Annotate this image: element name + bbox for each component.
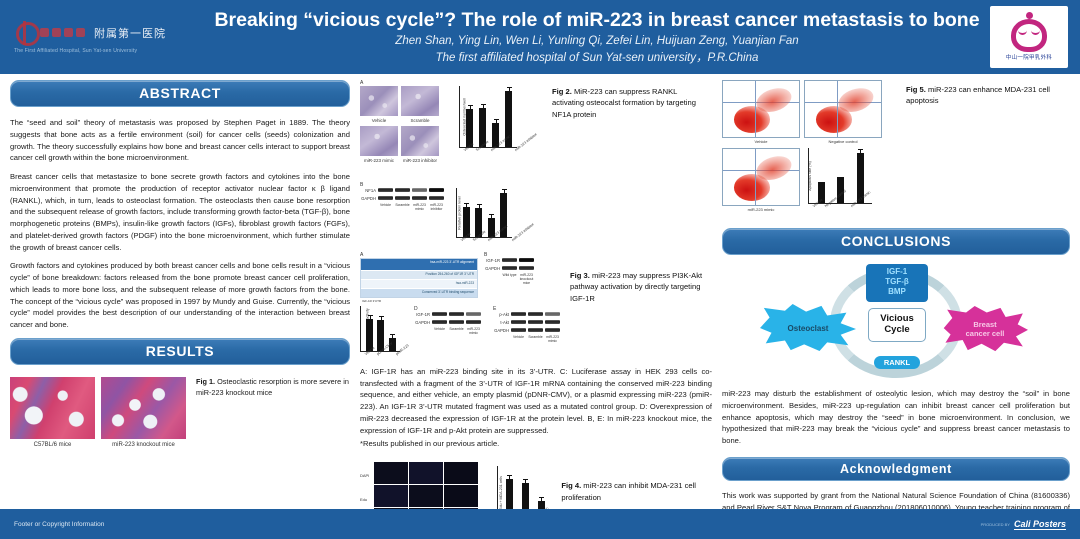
poster-affiliation: The first affiliated hospital of Sun Yat… <box>212 49 982 65</box>
poster-authors: Zhen Shan, Ying Lin, Wen Li, Yunling Qi,… <box>212 35 982 47</box>
university-logo-left: 附属第一医院 The First Affiliated Hospital, Su… <box>14 11 204 63</box>
micrograph-vehicle <box>360 86 398 116</box>
flow-panel-vehicle: Vehicle <box>722 80 800 144</box>
vicious-cycle-center-box: Vicious Cycle <box>868 308 926 342</box>
figure-2-graphic: A Vehicle Scramble <box>360 80 542 238</box>
blot-e-xlabel-3: miR-223 mimic <box>545 336 560 344</box>
figure-1-panel-knockout: miR-223 knockout mice <box>101 377 186 448</box>
blot-e-row-takt: t-Akt <box>493 320 509 325</box>
growth-factors-box: IGF-1 TGF-β BMP <box>866 264 928 302</box>
figure-5-caption-text: miR-223 can enhance MDA-231 cell apoptos… <box>906 85 1050 105</box>
figure-2-caption-label: Fig 2. <box>552 87 572 96</box>
figure-1-panel-label-2: miR-223 knockout mice <box>101 442 186 448</box>
blot-b-row-gapdh: GAPDH <box>484 266 500 271</box>
section-header-abstract: ABSTRACT <box>10 80 350 107</box>
growth-factor-tgfb: TGF-β <box>866 277 928 287</box>
footer-brand-logo: Cali Posters <box>1014 519 1066 529</box>
figure-3-caption: Fig 3. miR-223 may suppress PI3K-Akt pat… <box>570 252 712 352</box>
figure-5-graphic: Vehicle Negative control miR-223 mimic A… <box>722 80 894 212</box>
department-logo-right: 中山一院甲乳外科 <box>990 6 1068 68</box>
micrograph-scramble <box>401 86 439 116</box>
column-right: Vehicle Negative control miR-223 mimic A… <box>722 80 1070 532</box>
figure-5-caption-label: Fig 5. <box>906 85 926 94</box>
footer-brand-name: Cali Posters <box>1014 519 1066 530</box>
figure-1-caption-label: Fig 1. <box>196 377 215 386</box>
figure-2-block: A Vehicle Scramble <box>360 80 712 238</box>
title-block: Breaking “vicious cycle”? The role of mi… <box>204 9 990 65</box>
figure-3-block: A hsa-miR-223 3'-UTR alignment Position … <box>360 252 712 352</box>
micrograph-label-3: miR-223 mimic <box>360 158 398 163</box>
section-header-acknowledgment: Acknowledgment <box>722 457 1070 481</box>
vicious-cycle-line-2: Cycle <box>884 324 909 335</box>
figure-2-chart-a: Osteoclast number/well Vehicle Scramble … <box>459 86 517 148</box>
conclusions-body: miR-223 may disturb the establishment of… <box>722 388 1070 447</box>
logo-left-english-name: The First Affiliated Hospital, Sun Yat-s… <box>14 48 204 54</box>
figure-4-caption-label: Fig 4. <box>561 481 581 490</box>
figure-2-micrographs: Vehicle Scramble miR-223 mimic <box>360 86 439 164</box>
figure-1-panel-label-1: C57BL/6 mice <box>10 442 95 448</box>
logo-right-label: 中山一院甲乳外科 <box>1006 53 1052 61</box>
breast-cancer-label-2: cancer cell <box>966 329 1005 338</box>
blot-e-xlabel-1: Vehicle <box>511 336 526 344</box>
growth-factor-igf1: IGF-1 <box>866 267 928 277</box>
abstract-paragraph-2: Breast cancer cells that metastasize to … <box>10 171 350 253</box>
micrograph-label-4: miR-223 inhibitor <box>401 158 439 163</box>
figure-2-western-blot: NF1A GAPDH Vehicle <box>360 188 444 238</box>
figure-4-row-label-dapi: DAPI <box>360 473 371 478</box>
blot-e-xlabel-2: Scramble <box>528 336 543 344</box>
rankl-badge: RANKL <box>874 356 920 369</box>
footer-copyright-text: Footer or Copyright Information <box>14 521 104 528</box>
figure-1-block: C57BL/6 mice miR-223 knockout mice Fig 1… <box>10 377 350 448</box>
figure-1-caption: Fig 1. Osteoclastic resorption is more s… <box>196 377 350 448</box>
histology-image-c57bl6 <box>10 377 95 439</box>
figure-3-panel-b: B IGF-1R GAPDH Wild type miR-223 knockou… <box>484 252 534 298</box>
poster-canvas: 附属第一医院 The First Affiliated Hospital, Su… <box>0 0 1080 539</box>
figure-5-caption: Fig 5. miR-223 can enhance MDA-231 cell … <box>906 80 1062 212</box>
figure-4-caption-text: miR-223 can inhibit MDA-231 cell prolife… <box>561 481 696 501</box>
abstract-body: The “seed and soil” theory of metastasis… <box>10 117 350 331</box>
blot-xlabel-1: Vehicle <box>378 204 393 212</box>
section-header-conclusions: CONCLUSIONS <box>722 228 1070 255</box>
footer-brand-block: PRODUCED BY Cali Posters <box>981 519 1066 529</box>
vicious-cycle-line-1: Vicious <box>880 313 914 324</box>
footer-produced-by-label: PRODUCED BY <box>981 522 1010 527</box>
blot-xlabel-4: miR-223 inhibitor <box>429 204 444 212</box>
figure-2-chart-a-xlabel-4: miR-223 inhibitor <box>514 132 538 152</box>
figure-3-chart-c-legend-1: IGF-1R 3'UTR <box>362 299 381 303</box>
growth-factor-bmp: BMP <box>866 287 928 297</box>
blot-e-row-pakt: p-Akt <box>493 312 509 317</box>
blot-xlabel-3: miR-223 mimic <box>412 204 427 212</box>
figure-1-images: C57BL/6 mice miR-223 knockout mice <box>10 377 186 448</box>
figure-3-panel-e: E p-Akt t-Akt GAPDH <box>493 306 560 352</box>
figure-5-flow-label-3: miR-223 mimic <box>722 207 800 212</box>
figure-3-caption-label: Fig 3. <box>570 271 590 280</box>
blot-d-xlabel-1: Vehicle <box>432 328 447 336</box>
hospital-emblem-icon <box>14 21 36 45</box>
blot-row-label-gapdh: GAPDH <box>360 196 376 201</box>
figure-3-notes-block: A: IGF-1R has an miR-223 binding site in… <box>360 366 712 450</box>
blot-b-row-igf1r: IGF-1R <box>484 258 500 263</box>
figure-2-caption: Fig 2. MiR-223 can suppress RANKL activa… <box>552 80 702 238</box>
poster-header: 附属第一医院 The First Affiliated Hospital, Su… <box>0 0 1080 74</box>
blot-b-xlabel-2: miR-223 knockout mice <box>519 274 534 286</box>
figure-1-panel-wildtype: C57BL/6 mice <box>10 377 95 448</box>
poster-footer: Footer or Copyright Information PRODUCED… <box>0 509 1080 539</box>
abstract-paragraph-3: Growth factors and cytokines produced by… <box>10 260 350 331</box>
blot-d-row-igf1r: IGF-1R <box>414 312 430 317</box>
figure-3-panel-a: A hsa-miR-223 3'-UTR alignment Position … <box>360 252 478 298</box>
figure-5-chart: Apoptosis rate (%) Vehicle Negative cont… <box>808 148 872 204</box>
blot-d-row-gapdh: GAPDH <box>414 320 430 325</box>
blot-b-xlabel-1: Wild type <box>502 274 517 286</box>
flow-panel-negative: Negative control <box>804 80 882 144</box>
breast-cancer-label-1: Breast <box>973 320 996 329</box>
column-middle: A Vehicle Scramble <box>360 80 712 537</box>
figure-3-panel-d: D IGF-1R GAPDH Vehicle Scramble miR <box>414 306 481 352</box>
micrograph-label-1: Vehicle <box>360 118 398 123</box>
figure-3-caption-text: miR-223 may suppress PI3K-Akt pathway ac… <box>570 271 702 303</box>
figure-2-chart-b: Relative protein level Vehicle Scramble … <box>456 188 512 238</box>
figure-1-caption-text: Osteoclastic resorption is more severe i… <box>196 377 349 397</box>
micrograph-mimic <box>360 126 398 156</box>
histology-image-knockout <box>101 377 186 439</box>
vicious-cycle-diagram: IGF-1 TGF-β BMP Osteoclast Vicious Cycle… <box>746 264 1046 382</box>
figure-5-flow-label-2: Negative control <box>804 139 882 144</box>
column-left: ABSTRACT The “seed and soil” theory of m… <box>10 80 350 448</box>
osteoclast-label: Osteoclast <box>788 324 829 333</box>
blot-xlabel-2: Scramble <box>395 204 410 212</box>
poster-title: Breaking “vicious cycle”? The role of mi… <box>212 9 982 31</box>
figure-2-chart-b-xlabel-4: miR-223 inhibitor <box>511 222 535 242</box>
blot-row-label-nf1a: NF1A <box>360 188 376 193</box>
figure-3-footnote: *Results published in our previous artic… <box>360 438 712 450</box>
logo-chinese-marks <box>40 28 85 37</box>
mother-child-icon <box>1007 14 1051 52</box>
figure-3-chart-c: Relative luciferase activity IGF-1R 3'UT… <box>360 306 400 352</box>
sequence-alignment-panel: hsa-miR-223 3'-UTR alignment Position 25… <box>360 258 478 298</box>
blot-d-xlabel-3: miR-223 mimic <box>466 328 481 336</box>
figure-5-block: Vehicle Negative control miR-223 mimic A… <box>722 80 1070 212</box>
conclusions-text: miR-223 may disturb the establishment of… <box>722 388 1070 447</box>
figure-4-row-label-edu: Edu <box>360 497 371 502</box>
blot-e-row-gapdh: GAPDH <box>493 328 509 333</box>
blot-d-xlabel-2: Scramble <box>449 328 464 336</box>
logo-left-chinese-name: 附属第一医院 <box>94 25 166 41</box>
section-header-results: RESULTS <box>10 338 350 365</box>
abstract-paragraph-1: The “seed and soil” theory of metastasis… <box>10 117 350 164</box>
figure-3-notes: A: IGF-1R has an miR-223 binding site in… <box>360 366 712 437</box>
figure-3-graphic: A hsa-miR-223 3'-UTR alignment Position … <box>360 252 560 352</box>
figure-2-caption-text: MiR-223 can suppress RANKL activating os… <box>552 87 696 119</box>
figure-5-flow-label-1: Vehicle <box>722 139 800 144</box>
micrograph-inhibitor <box>401 126 439 156</box>
micrograph-label-2: Scramble <box>401 118 439 123</box>
flow-panel-mimic: miR-223 mimic <box>722 148 800 212</box>
